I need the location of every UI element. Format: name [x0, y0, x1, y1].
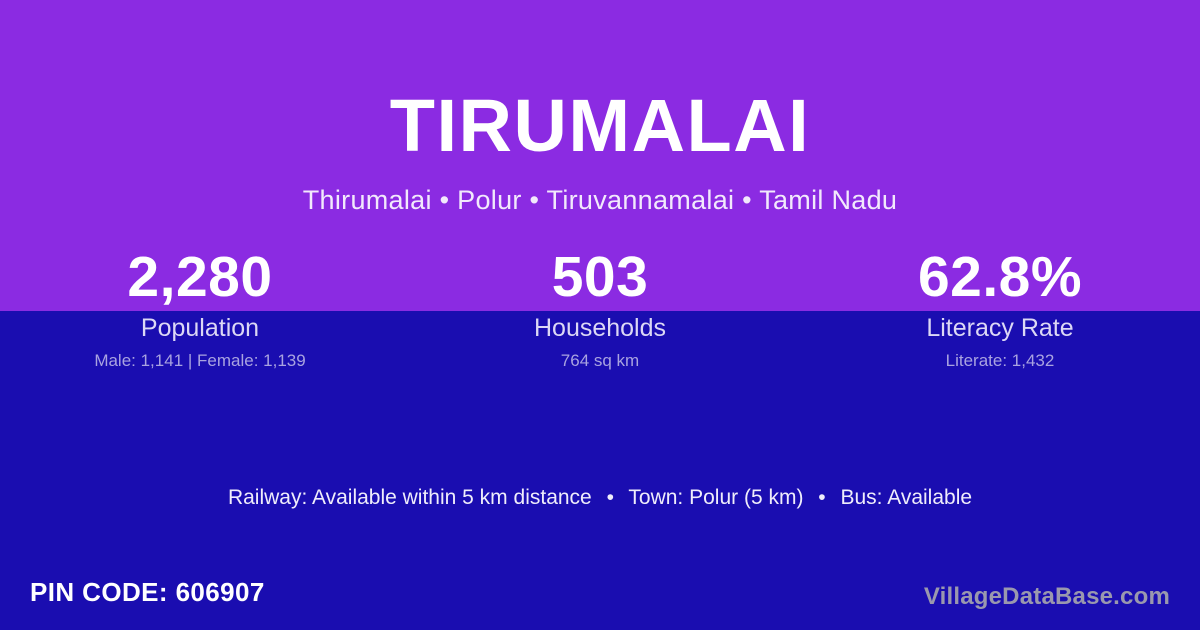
stat-households-label: Households: [400, 313, 800, 343]
card-content: TIRUMALAI Thirumalai • Polur • Tiruvanna…: [0, 0, 1200, 630]
stats-row: 2,280 Population Male: 1,141 | Female: 1…: [0, 243, 1200, 371]
stat-literacy-rate-value: 62.8%: [800, 243, 1200, 311]
infra-bus: Bus: Available: [841, 486, 973, 509]
infra-separator-2: •: [809, 484, 834, 512]
site-brand: VillageDataBase.com: [924, 582, 1170, 612]
pin-code: PIN CODE: 606907: [30, 576, 265, 608]
breadcrumb: Thirumalai • Polur • Tiruvannamalai • Ta…: [0, 183, 1200, 217]
stat-population-value: 2,280: [0, 243, 400, 311]
stat-literacy-rate-sub: Literate: 1,432: [800, 350, 1200, 371]
stat-population-label: Population: [0, 313, 400, 343]
stat-literacy-rate-label: Literacy Rate: [800, 313, 1200, 343]
infra-town: Town: Polur (5 km): [628, 486, 803, 509]
stat-population-sub: Male: 1,141 | Female: 1,139: [0, 350, 400, 371]
page-title: TIRUMALAI: [0, 84, 1200, 168]
stat-households-sub: 764 sq km: [400, 350, 800, 371]
stat-households: 503 Households 764 sq km: [400, 243, 800, 371]
stat-households-value: 503: [400, 243, 800, 311]
stat-population: 2,280 Population Male: 1,141 | Female: 1…: [0, 243, 400, 371]
infra-separator-1: •: [598, 484, 623, 512]
village-info-card: TIRUMALAI Thirumalai • Polur • Tiruvanna…: [0, 0, 1200, 630]
infrastructure-line: Railway: Available within 5 km distance …: [0, 484, 1200, 512]
stat-literacy-rate: 62.8% Literacy Rate Literate: 1,432: [800, 243, 1200, 371]
infra-railway: Railway: Available within 5 km distance: [228, 486, 592, 509]
